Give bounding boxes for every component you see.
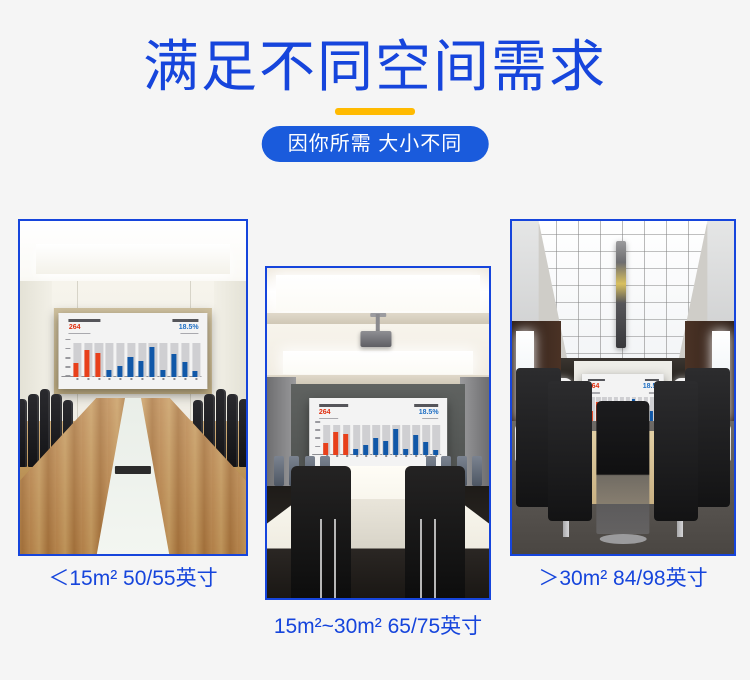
chart-annotation-left: 264	[319, 404, 352, 419]
foreground-executive-chair	[596, 401, 649, 534]
chart-kpi-primary: 264	[319, 409, 352, 416]
chair	[239, 399, 248, 468]
chart-bar-value	[74, 363, 79, 377]
chart-bar-group	[170, 340, 178, 377]
chart-x-tick	[98, 378, 100, 380]
chart-bar-value	[373, 438, 378, 456]
chart-x-tick	[130, 378, 132, 380]
chair	[654, 381, 698, 521]
chart-sublabel-bar	[69, 333, 90, 335]
chair	[274, 456, 284, 486]
chart-bar-value	[139, 361, 144, 377]
chart-bar-value	[423, 442, 428, 455]
scene-wooden-boardroom: 264 18.5%	[20, 221, 246, 554]
chart-bar-group	[149, 340, 157, 377]
chart-bar-value	[128, 357, 133, 377]
room-photo-large: 264 18.5%	[510, 219, 736, 556]
chart-bar-group	[160, 340, 168, 377]
chart-label-bar	[414, 404, 438, 406]
chart-x-tick	[141, 378, 143, 380]
promo-page: 满足不同空间需求 因你所需 大小不同 264	[0, 0, 750, 680]
chart-bar-group	[433, 423, 441, 455]
chart-x-tick	[174, 378, 176, 380]
chart-y-tick	[315, 446, 320, 448]
caption-small-room: ＜15m² 50/55英寸	[0, 566, 266, 592]
scene-large-boardroom: 264 18.5%	[512, 221, 734, 554]
chart-bar-group	[323, 423, 331, 455]
chair-leg	[334, 519, 336, 598]
chart-y-tick	[65, 348, 71, 350]
header: 满足不同空间需求 因你所需 大小不同	[0, 0, 750, 190]
chart-bar-value	[413, 435, 418, 455]
caption-medium-room: 15m²~30m² 65/75英寸	[249, 614, 507, 640]
chart-x-tick	[185, 378, 187, 380]
chart-bar-group	[84, 340, 92, 377]
chart-bar-value	[106, 370, 111, 377]
chart-sublabel-bar	[319, 418, 339, 420]
chair	[227, 394, 237, 468]
chart-y-tick	[65, 357, 71, 359]
chart-bar-group	[393, 423, 401, 455]
chair-base	[600, 534, 647, 544]
chart-bar-value	[383, 441, 388, 455]
chair-leg	[434, 519, 436, 598]
chart-bar-value	[403, 449, 408, 455]
title-underline-accent	[335, 108, 415, 115]
chart-label-bar	[172, 319, 198, 321]
chart-y-tick	[65, 339, 71, 341]
chart-kpi-secondary: 18.5%	[169, 324, 199, 331]
chart-bar-group	[403, 423, 411, 455]
chart-bar-value	[150, 347, 155, 377]
chart-bar-value	[85, 350, 90, 376]
chart-bar-value	[117, 366, 122, 377]
screen-bar-chart: 264 18.5%	[58, 313, 207, 390]
chart-bar-group	[73, 340, 81, 377]
chart-bar-group	[95, 340, 103, 377]
chart-x-tick	[120, 378, 122, 380]
chart-bar-group	[353, 423, 361, 455]
chart-bar-group	[127, 340, 135, 377]
chart-bar-value	[193, 371, 198, 377]
chart-bar-group	[192, 340, 200, 377]
room-photo-medium: 264 18.5%	[265, 266, 491, 600]
chart-kpi-secondary: 18.5%	[411, 409, 439, 416]
chart-x-tick	[152, 378, 154, 380]
chart-annotation-right: 18.5%	[169, 319, 199, 334]
chart-bar-value	[160, 370, 165, 377]
chart-x-tick	[195, 378, 197, 380]
room-photo-small: 264 18.5%	[18, 219, 248, 556]
chair	[548, 381, 592, 521]
chair	[472, 456, 482, 486]
chart-bar-group	[106, 340, 114, 377]
chart-y-axis	[61, 340, 71, 377]
chart-bar-value	[95, 353, 100, 377]
ceiling-light-panel	[276, 275, 480, 311]
chart-y-tick	[315, 429, 320, 431]
page-title: 满足不同空间需求	[0, 34, 750, 100]
chart-bar-value	[182, 362, 187, 377]
scene-projector-room: 264 18.5%	[267, 268, 489, 598]
chart-y-axis	[312, 423, 322, 455]
chart-bar-value	[353, 449, 358, 455]
ceiling-projector	[360, 331, 391, 348]
chart-bar-group	[343, 423, 351, 455]
chart-x-tick	[109, 378, 111, 380]
chart-y-tick	[315, 437, 320, 439]
chart-bar-value	[393, 429, 398, 456]
chart-label-bar	[69, 319, 101, 321]
chart-bar-value	[171, 354, 176, 377]
chair-leg	[320, 519, 322, 598]
chart-y-tick	[65, 366, 71, 368]
chart-bar-group	[423, 423, 431, 455]
chair	[18, 399, 27, 468]
ceiling-light-panel	[283, 351, 474, 374]
chart-annotation-left: 264	[69, 319, 105, 334]
wall-mounted-display: 264 18.5%	[58, 313, 207, 390]
chair	[28, 394, 38, 468]
chart-label-bar	[319, 404, 348, 406]
table-cable-port	[115, 466, 151, 474]
chart-bar-value	[343, 434, 348, 455]
chair-leg	[420, 519, 422, 598]
chart-bar-group	[373, 423, 381, 455]
chart-x-axis	[72, 377, 202, 381]
chart-bar-group	[116, 340, 124, 377]
chart-plot-area	[72, 340, 202, 377]
chart-bar-group	[138, 340, 146, 377]
chart-bar-group	[383, 423, 391, 455]
ceiling-light-slot	[36, 244, 230, 274]
chart-y-tick	[315, 421, 320, 423]
chart-plot-area	[322, 423, 442, 455]
chart-bar-group	[333, 423, 341, 455]
chart-kpi-primary: 264	[69, 324, 105, 331]
chart-x-tick	[87, 378, 89, 380]
chart-sublabel-bar	[422, 418, 439, 420]
chart-bar-value	[323, 443, 328, 455]
subtitle-badge: 因你所需 大小不同	[262, 126, 489, 162]
chart-bar-group	[181, 340, 189, 377]
chart-bar-value	[333, 432, 338, 455]
chart-bar-group	[413, 423, 421, 455]
caption-large-room: ＞30m² 84/98英寸	[495, 566, 750, 592]
ceiling-projector	[616, 241, 626, 348]
chart-bar-value	[363, 445, 368, 455]
chart-annotation-right: 18.5%	[411, 404, 439, 419]
chart-bar-value	[433, 450, 438, 455]
chart-sublabel-bar	[181, 333, 199, 335]
chart-x-tick	[76, 378, 78, 380]
chart-bar-group	[363, 423, 371, 455]
chart-x-tick	[163, 378, 165, 380]
